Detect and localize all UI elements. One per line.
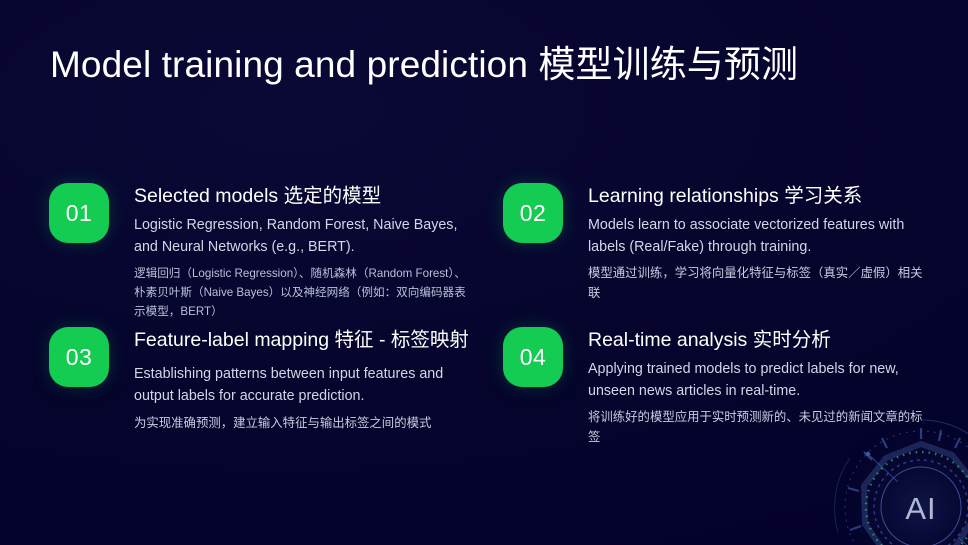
card-description-04: Applying trained models to predict label…: [588, 359, 933, 402]
card-number-badge-03: 03: [49, 327, 109, 387]
card-number-badge-04: 04: [503, 327, 563, 387]
emblem-nodes: [866, 448, 968, 545]
card-number-badge-01: 01: [49, 183, 109, 243]
emblem-dashed-ring: [845, 431, 968, 545]
page-title: Model training and prediction 模型训练与预测: [50, 44, 798, 87]
feature-card-04: 04 Real-time analysis 实时分析 Applying trai…: [503, 327, 933, 448]
feature-card-01: 01 Selected models 选定的模型 Logistic Regres…: [49, 183, 469, 321]
slide-canvas: Model training and prediction 模型训练与预测 01…: [0, 0, 968, 545]
card-description-02: Models learn to associate vectorized fea…: [588, 215, 933, 258]
card-heading-03: Feature-label mapping 特征 - 标签映射: [134, 328, 469, 352]
emblem-core-circle: [881, 467, 961, 545]
emblem-connectors: [868, 454, 968, 545]
card-heading-04: Real-time analysis 实时分析: [588, 328, 933, 352]
card-heading-02: Learning relationships 学习关系: [588, 184, 933, 208]
card-body-03: Feature-label mapping 特征 - 标签映射 Establis…: [134, 327, 469, 433]
feature-card-02: 02 Learning relationships 学习关系 Models le…: [503, 183, 933, 304]
emblem-ai-label: AI: [905, 491, 936, 526]
card-description-01: Logistic Regression, Random Forest, Naiv…: [134, 215, 469, 258]
card-body-01: Selected models 选定的模型 Logistic Regressio…: [134, 183, 469, 321]
emblem-gear-outline: [864, 444, 968, 545]
emblem-inner-dotted-arc: [866, 452, 968, 545]
card-chinese-note-02: 模型通过训练，学习将向量化特征与标签（真实／虚假）相关联: [588, 263, 933, 304]
card-chinese-note-01: 逻辑回归（Logistic Regression）、随机森林（Random Fo…: [134, 264, 469, 321]
card-chinese-note-03: 为实现准确预测，建立输入特征与输出标签之间的模式: [134, 413, 469, 433]
feature-card-03: 03 Feature-label mapping 特征 - 标签映射 Estab…: [49, 327, 469, 433]
card-body-02: Learning relationships 学习关系 Models learn…: [588, 183, 933, 304]
card-heading-01: Selected models 选定的模型: [134, 184, 469, 208]
card-body-04: Real-time analysis 实时分析 Applying trained…: [588, 327, 933, 448]
emblem-inner-dashed-arc: [874, 460, 968, 545]
card-description-03: Establishing patterns between input feat…: [134, 364, 469, 407]
card-number-badge-02: 02: [503, 183, 563, 243]
card-chinese-note-04: 将训练好的模型应用于实时预测新的、未见过的新闻文章的标签: [588, 407, 933, 448]
